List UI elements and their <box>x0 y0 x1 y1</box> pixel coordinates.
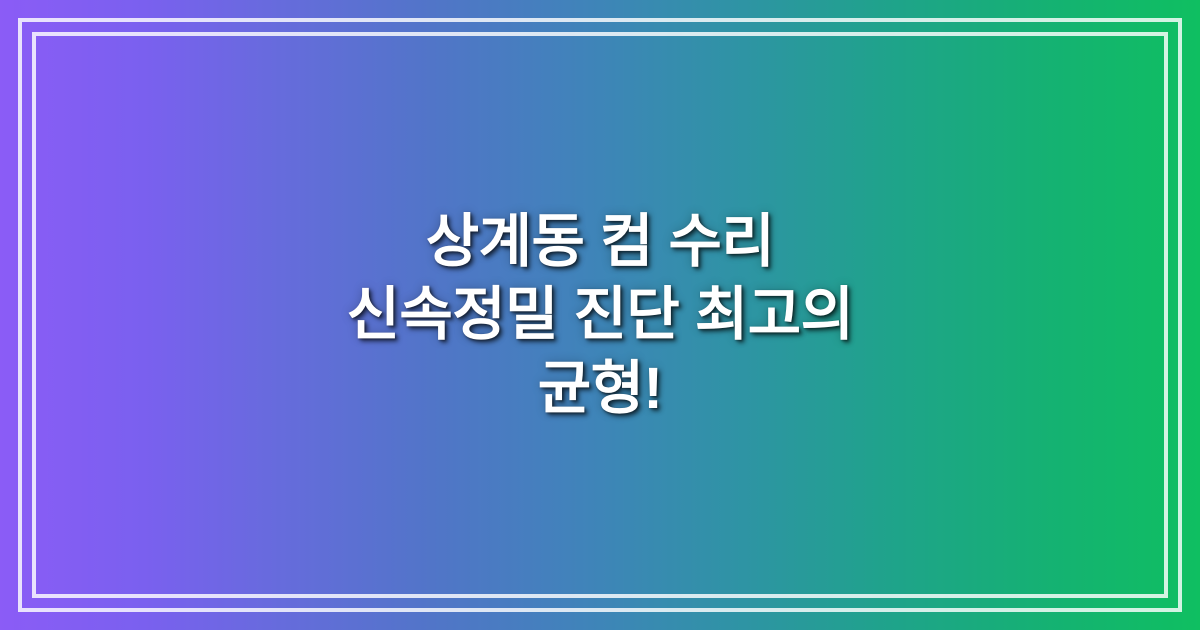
banner-content: 상계동 컴 수리 신속정밀 진단 최고의 균형! <box>40 0 1160 630</box>
headline-line-3: 균형! <box>40 352 1160 425</box>
headline-line-2: 신속정밀 진단 최고의 <box>40 278 1160 351</box>
headline-line-1: 상계동 컴 수리 <box>40 205 1160 278</box>
promo-banner: 상계동 컴 수리 신속정밀 진단 최고의 균형! <box>0 0 1200 630</box>
banner-headline: 상계동 컴 수리 신속정밀 진단 최고의 균형! <box>40 205 1160 424</box>
